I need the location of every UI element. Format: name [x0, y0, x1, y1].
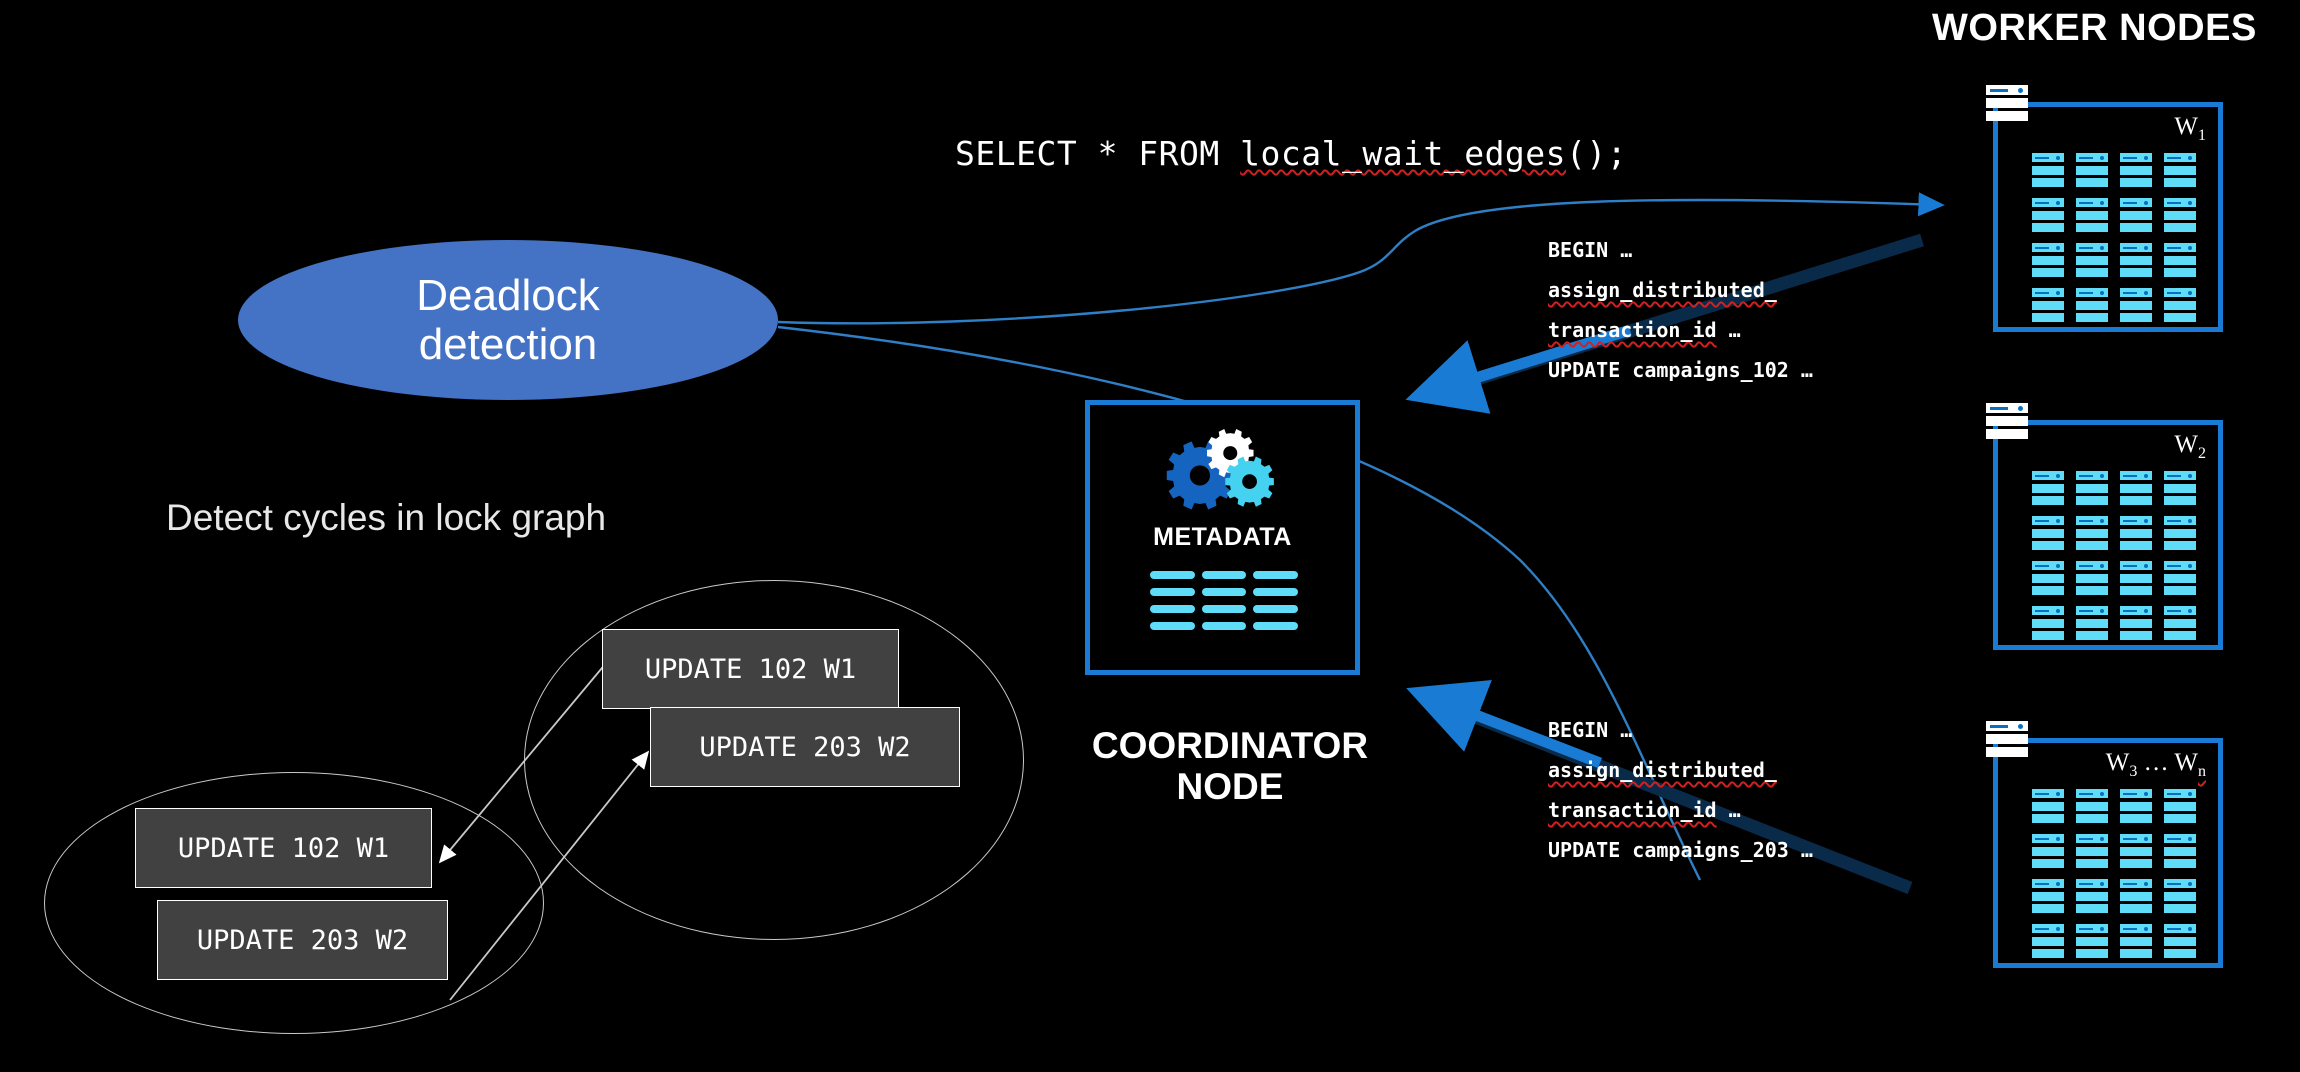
- shard-icon: [2120, 153, 2152, 187]
- worker-label-w3-wn: W3 … Wn: [2106, 749, 2206, 781]
- gears-icon: [1090, 423, 1355, 515]
- sql-prefix: SELECT * FROM: [955, 134, 1240, 173]
- shard-icon: [2032, 789, 2064, 823]
- coordinator-node-heading: COORDINATORNODE: [1060, 725, 1400, 808]
- shard-icon: [2076, 789, 2108, 823]
- shard-icon: [2120, 834, 2152, 868]
- shard-icon: [2120, 606, 2152, 640]
- worker-nodes-heading: WORKER NODES: [1932, 7, 2257, 50]
- sql-function-name: local_wait_edges: [1240, 134, 1566, 173]
- txn-line-transaction-id-suffix: …: [1717, 318, 1741, 342]
- server-stack-icon: [1986, 721, 2028, 760]
- transaction-block-102: BEGIN … assign_distributed_ transaction_…: [1548, 230, 1813, 390]
- lock-graph-node-lower-1[interactable]: UPDATE 102 W1: [135, 808, 432, 888]
- transaction-block-203: BEGIN … assign_distributed_ transaction_…: [1548, 710, 1813, 870]
- shard-grid: [2032, 789, 2200, 958]
- shard-icon: [2032, 153, 2064, 187]
- shard-icon: [2164, 924, 2196, 958]
- shard-icon: [2076, 471, 2108, 505]
- shard-grid: [2032, 471, 2200, 640]
- shard-icon: [2076, 198, 2108, 232]
- sql-statement: SELECT * FROM local_wait_edges();: [955, 134, 1627, 173]
- shard-icon: [2120, 471, 2152, 505]
- shard-icon: [2120, 561, 2152, 595]
- shard-icon: [2076, 153, 2108, 187]
- worker-node-w1[interactable]: W1: [1993, 102, 2223, 332]
- shard-icon: [2120, 243, 2152, 277]
- shard-icon: [2076, 243, 2108, 277]
- lock-graph-node-upper-2[interactable]: UPDATE 203 W2: [650, 707, 960, 787]
- txn-line-transaction-id: transaction_id: [1548, 798, 1717, 822]
- txn-line-transaction-id-suffix: …: [1717, 798, 1741, 822]
- shard-icon: [2076, 879, 2108, 913]
- deadlock-detection-node: Deadlock detection: [238, 240, 778, 400]
- txn-line-transaction-id: transaction_id: [1548, 318, 1717, 342]
- metadata-label: METADATA: [1090, 523, 1355, 552]
- shard-icon: [2120, 789, 2152, 823]
- shard-icon: [2120, 879, 2152, 913]
- shard-icon: [2076, 834, 2108, 868]
- shard-icon: [2076, 516, 2108, 550]
- shard-icon: [2164, 789, 2196, 823]
- txn-line-begin: BEGIN …: [1548, 710, 1813, 750]
- shard-icon: [2164, 606, 2196, 640]
- txn-line-assign: assign_distributed_: [1548, 750, 1813, 790]
- server-stack-icon: [1986, 403, 2028, 442]
- shard-icon: [2120, 288, 2152, 322]
- shard-icon: [2120, 516, 2152, 550]
- shard-icon: [2164, 198, 2196, 232]
- shard-icon: [2032, 606, 2064, 640]
- worker-label-w1: W1: [2174, 113, 2206, 145]
- sql-suffix: ();: [1566, 134, 1627, 173]
- worker-node-w3-wn[interactable]: W3 … Wn: [1993, 738, 2223, 968]
- server-stack-icon: [1986, 85, 2028, 124]
- shard-icon: [2032, 243, 2064, 277]
- shard-icon: [2164, 288, 2196, 322]
- shard-icon: [2032, 561, 2064, 595]
- lock-graph-node-lower-2[interactable]: UPDATE 203 W2: [157, 900, 448, 980]
- worker-label-w2: W2: [2174, 431, 2206, 463]
- coordinator-node[interactable]: METADATA: [1085, 400, 1360, 675]
- shard-icon: [2164, 153, 2196, 187]
- txn-line-begin: BEGIN …: [1548, 230, 1813, 270]
- deadlock-detection-label: Deadlock detection: [416, 271, 599, 370]
- shard-icon: [2164, 243, 2196, 277]
- shard-icon: [2076, 924, 2108, 958]
- txn-line-assign: assign_distributed_: [1548, 270, 1813, 310]
- shard-icon: [2032, 834, 2064, 868]
- shard-grid: [2032, 153, 2200, 322]
- shard-icon: [2120, 198, 2152, 232]
- txn-line-update: UPDATE campaigns_102 …: [1548, 350, 1813, 390]
- worker-node-w2[interactable]: W2: [1993, 420, 2223, 650]
- detect-cycles-caption: Detect cycles in lock graph: [166, 497, 606, 539]
- diagram-canvas: WORKER NODES Deadlock detection Detect c…: [0, 0, 2300, 1072]
- shard-icon: [2032, 471, 2064, 505]
- shard-icon: [2032, 879, 2064, 913]
- lock-graph-node-upper-1[interactable]: UPDATE 102 W1: [602, 629, 899, 709]
- shard-icon: [2164, 561, 2196, 595]
- shard-icon: [2032, 288, 2064, 322]
- shard-icon: [2120, 924, 2152, 958]
- shard-icon: [2164, 471, 2196, 505]
- shard-icon: [2076, 606, 2108, 640]
- shard-icon: [2032, 516, 2064, 550]
- shard-icon: [2032, 924, 2064, 958]
- shard-icon: [2076, 561, 2108, 595]
- metadata-rows: [1150, 571, 1298, 630]
- shard-icon: [2076, 288, 2108, 322]
- shard-icon: [2032, 198, 2064, 232]
- txn-line-update: UPDATE campaigns_203 …: [1548, 830, 1813, 870]
- shard-icon: [2164, 834, 2196, 868]
- shard-icon: [2164, 879, 2196, 913]
- shard-icon: [2164, 516, 2196, 550]
